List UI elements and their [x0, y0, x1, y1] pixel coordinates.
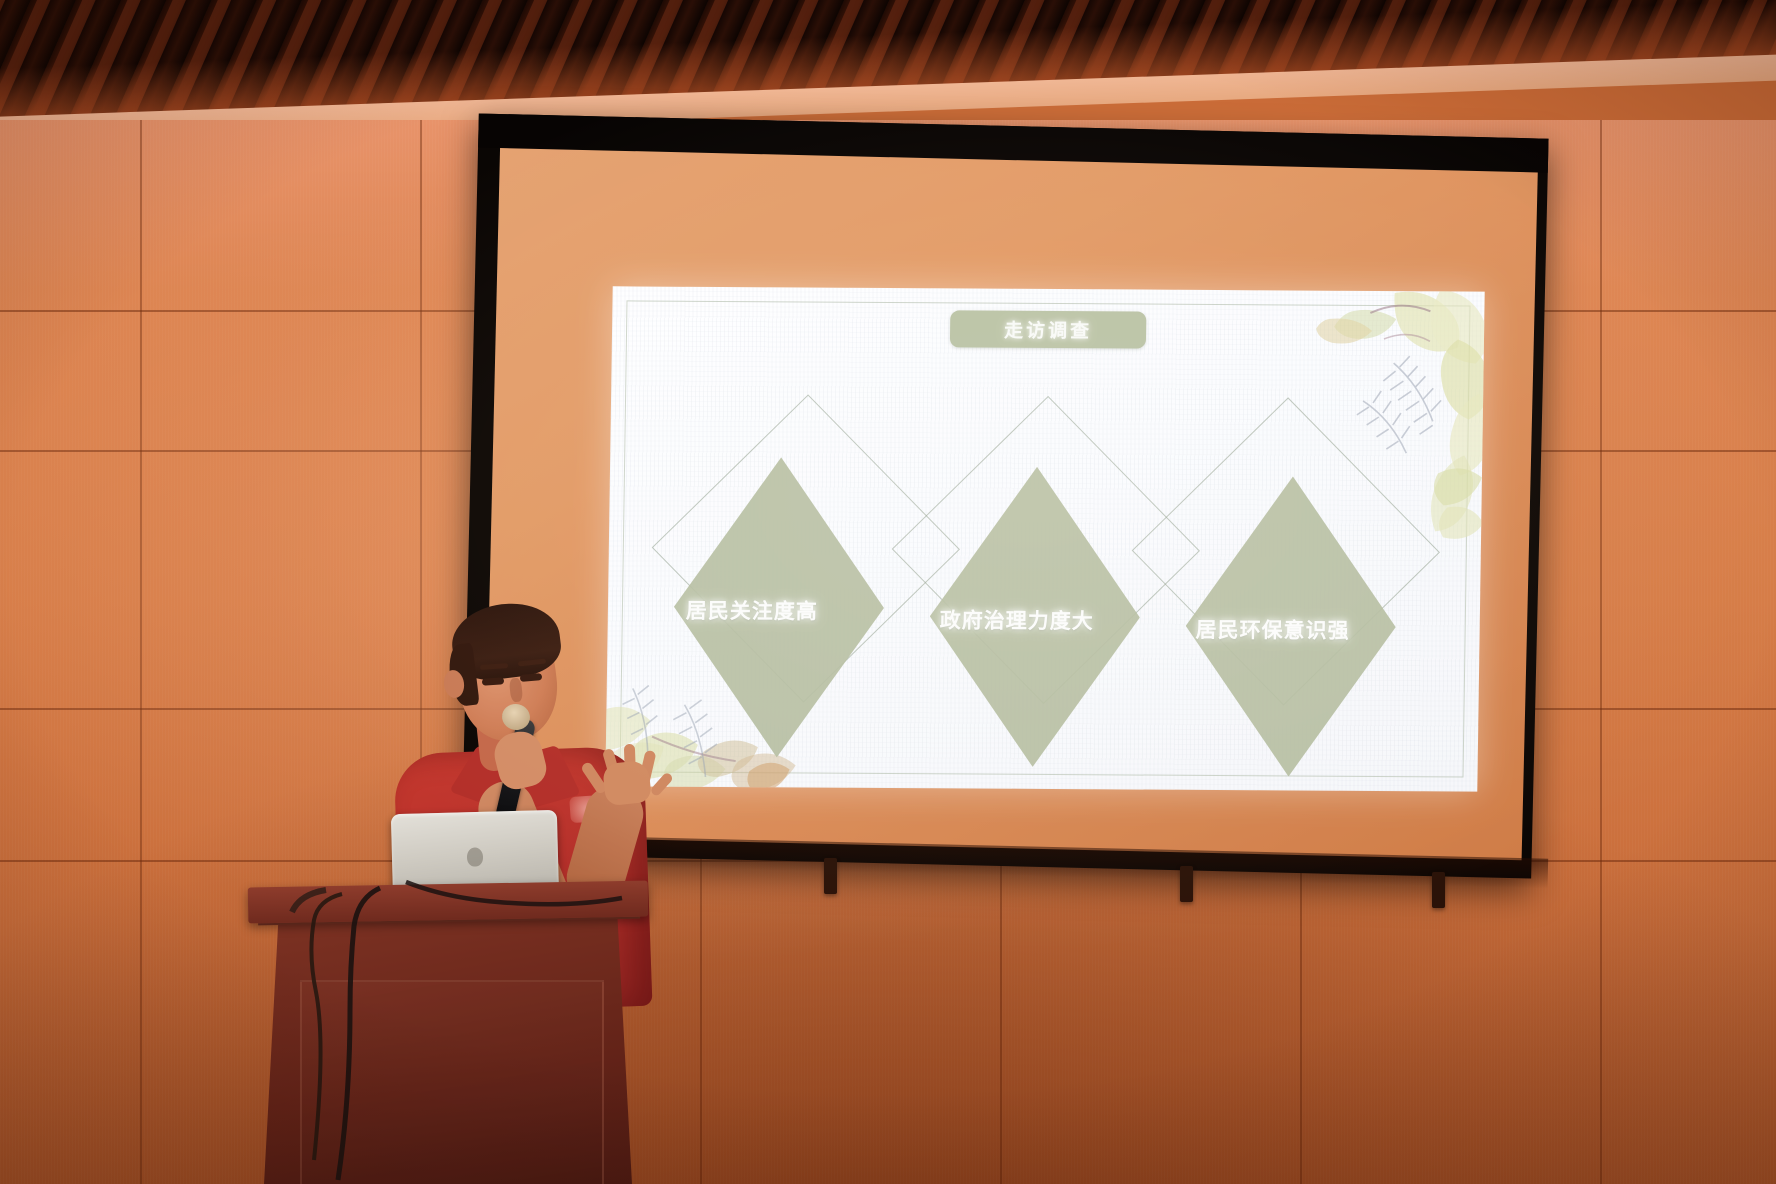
screen-mount-bracket: [824, 858, 837, 894]
presenter-open-hand: [596, 740, 656, 802]
diamond-fill-layer: 居民关注度高 政府治理力度大 居民环保意识强: [605, 286, 1484, 791]
photograph-scene: 走访调查 居民关注度高 政府治理力度大 居民环保意识强: [0, 0, 1776, 1184]
thumb: [649, 771, 674, 797]
palm: [602, 760, 652, 807]
screen-mount-bracket: [1432, 872, 1445, 908]
diamond-label-3: 居民环保意识强: [1195, 614, 1349, 645]
cables: [230, 860, 690, 1184]
screen-mount-bracket: [1180, 866, 1193, 902]
projected-slide: 走访调查 居民关注度高 政府治理力度大 居民环保意识强: [605, 286, 1484, 791]
diamond-label-2: 政府治理力度大: [940, 604, 1094, 635]
diamond-label-1: 居民关注度高: [686, 595, 818, 626]
